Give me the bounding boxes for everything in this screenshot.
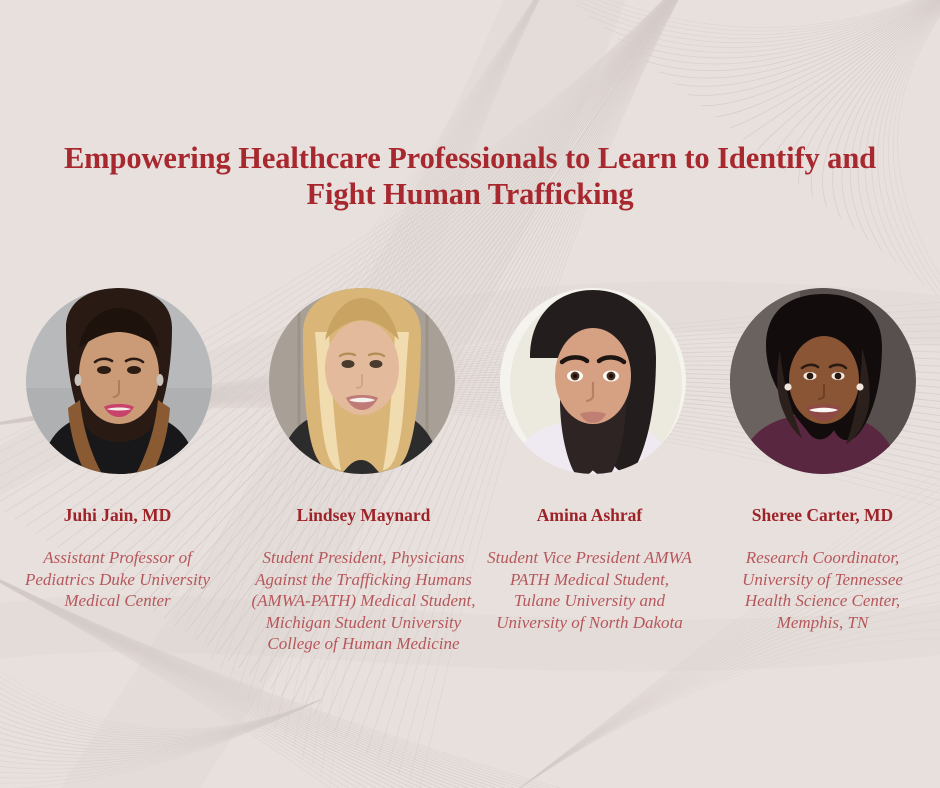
presenter-card-juhi-jain: Juhi Jain, MD Assistant Professor of Ped… <box>0 288 235 655</box>
presenter-name: Juhi Jain, MD <box>64 505 171 525</box>
presenter-name: Lindsey Maynard <box>297 505 431 525</box>
presenter-card-sheree-carter: Sheree Carter, MD Research Coordinator, … <box>705 288 940 655</box>
portrait-juhi-jain <box>26 288 212 474</box>
presenter-bio: Research Coordinator, University of Tenn… <box>728 547 918 633</box>
presenter-bio: Assistant Professor of Pediatrics Duke U… <box>20 547 215 612</box>
presenter-bio: Student Vice President AMWA PATH Medical… <box>487 547 692 633</box>
portrait-amina-ashraf <box>500 288 686 474</box>
presenter-name: Amina Ashraf <box>537 505 643 525</box>
title-line-2: Fight Human Trafficking <box>40 176 900 212</box>
presenter-card-lindsey-maynard: Lindsey Maynard Student President, Physi… <box>235 288 470 655</box>
portrait-lindsey-maynard <box>269 288 455 474</box>
slide-title: Empowering Healthcare Professionals to L… <box>40 140 900 212</box>
portrait-sheree-carter <box>730 288 916 474</box>
presenter-name: Sheree Carter, MD <box>752 505 893 525</box>
presenter-bio: Student President, Physicians Against th… <box>250 547 478 655</box>
presentation-slide: Empowering Healthcare Professionals to L… <box>0 0 940 788</box>
title-line-1: Empowering Healthcare Professionals to L… <box>40 140 900 176</box>
presenter-row: Juhi Jain, MD Assistant Professor of Ped… <box>0 288 940 655</box>
presenter-card-amina-ashraf: Amina Ashraf Student Vice President AMWA… <box>470 288 705 655</box>
